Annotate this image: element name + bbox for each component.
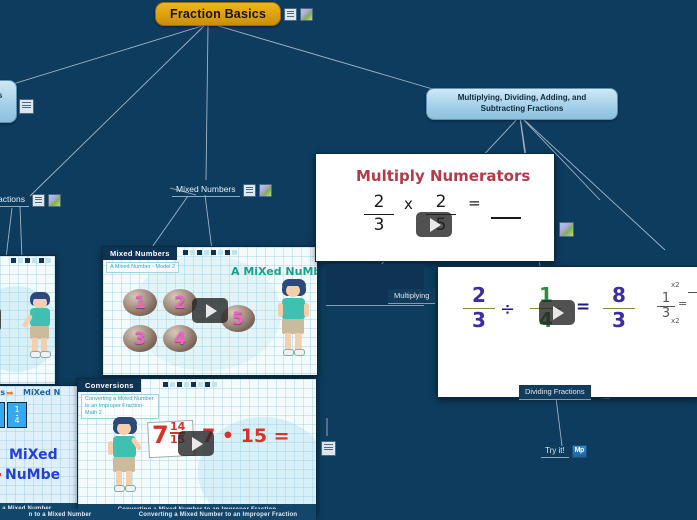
operator-multiply: x xyxy=(404,195,413,213)
video-mixed-numbers[interactable]: Mixed Numbers A Mixed Number - Model 2 A… xyxy=(102,246,318,376)
answer-blank xyxy=(491,217,521,219)
frac1-numerator: 2 xyxy=(364,194,394,212)
video-overlay-title-mixed: A MiXed NuMbeR xyxy=(231,265,317,278)
bigfrac-denominator: 4 xyxy=(0,476,1,505)
image-icon-right[interactable] xyxy=(559,222,574,237)
coin-1: 1 xyxy=(123,289,157,316)
mindmap-canvas[interactable]: Fraction Basics Multiplying, Dividing, A… xyxy=(0,0,697,520)
frac2-numerator: 2 xyxy=(426,194,456,212)
equals-sign-divide: = xyxy=(576,297,590,317)
video-header-right-fractions-to-mixed: MiXed N xyxy=(23,388,60,397)
node-mixed-numbers-label[interactable]: Mixed Numbers xyxy=(172,183,240,197)
label-multiplying[interactable]: Multiplying xyxy=(388,289,435,304)
video-header-conversions: Conversions xyxy=(78,379,141,392)
frac1-denominator: 3 xyxy=(364,217,394,235)
node-multiplying-dividing-label[interactable]: Multiplying, Dividing, Adding, and Subtr… xyxy=(426,88,618,120)
root-node-group[interactable]: Fraction Basics xyxy=(155,2,313,26)
div-c-denominator: 3 xyxy=(603,310,635,332)
note-icon-fractions[interactable] xyxy=(32,194,45,207)
video-fractions-to-mixed[interactable]: fractions ➡ MiXed N 1 4 1 4 xyxy=(0,385,80,515)
side-frac-numerator: 1 xyxy=(657,292,675,306)
image-icon-fractions[interactable] xyxy=(48,194,61,207)
mp-icon[interactable]: Mp xyxy=(572,445,587,458)
video-subtitle-mixed-numbers: A Mixed Number - Model 2 xyxy=(106,262,179,273)
caption-bottom-conversions: Converting a Mixed Number to an Improper… xyxy=(120,509,316,520)
node-try-it-label[interactable]: Try it! xyxy=(541,445,569,458)
node-try-it-group[interactable]: Try it! Mp xyxy=(541,445,587,458)
video-header-mixed-numbers: Mixed Numbers xyxy=(103,247,177,260)
label-dividing-fractions[interactable]: Dividing Fractions xyxy=(519,385,591,400)
arrow-icon: ➡ xyxy=(6,388,14,399)
side-frac-equals: = xyxy=(678,297,687,310)
video-header-fractions-to-mixed: fractions xyxy=(0,388,5,397)
node-fractions-group[interactable]: Fractions xyxy=(0,193,61,207)
conversion-whole-number: 7 xyxy=(152,423,169,447)
node-fractions-label[interactable]: Fractions xyxy=(0,193,29,207)
node-fractions-partial-group[interactable]: ns xyxy=(0,80,17,123)
video-subtitle-conversions: Converting a Mixed Number to an Improper… xyxy=(81,394,159,419)
video-dividing-fractions[interactable]: 2 3 ÷ 1 4 = 8 3 1 3 x2 x2 = xyxy=(437,266,697,398)
image-icon-mixed-numbers[interactable] xyxy=(259,184,272,197)
video-fractions-left-edge[interactable]: ctions Number xyxy=(0,255,56,385)
note-icon-lower[interactable] xyxy=(321,441,336,456)
bigfrac-numerator: 3 xyxy=(0,444,1,473)
operator-divide: ÷ xyxy=(500,299,515,320)
mixed-word-2: NuMbe xyxy=(5,468,60,482)
note-icon[interactable] xyxy=(284,8,297,21)
coin-3: 3 xyxy=(123,325,157,352)
coin-4: 4 xyxy=(163,325,197,352)
side-frac-superscript: x2 xyxy=(671,281,680,289)
note-icon-partial[interactable] xyxy=(19,99,34,114)
slide-title-multiply-numerators: Multiply Numerators xyxy=(356,167,530,185)
fraction-cell-3: 1 4 xyxy=(7,402,27,428)
root-node-label[interactable]: Fraction Basics xyxy=(155,2,281,26)
note-icon-mixed-numbers[interactable] xyxy=(243,184,256,197)
fraction-cell-2: 1 4 xyxy=(0,402,5,428)
side-frac2-bar xyxy=(688,292,697,293)
node-fractions-partial-label[interactable]: ns xyxy=(0,80,17,123)
div-c-numerator: 8 xyxy=(603,285,635,307)
conversion-expression: 7 • 15 = xyxy=(202,425,290,447)
caption-bottom-left: n to a Mixed Number xyxy=(0,509,120,520)
equals-sign-multiply: = xyxy=(468,194,481,212)
node-multiplying-dividing-group[interactable]: Multiplying, Dividing, Adding, and Subtr… xyxy=(426,88,618,120)
mixed-word-1: MiXed xyxy=(9,448,58,462)
image-icon[interactable] xyxy=(300,8,313,21)
play-button-multiply-numerators[interactable] xyxy=(416,212,452,237)
video-multiply-numerators[interactable]: Multiply Numerators 2 3 x 2 5 = xyxy=(315,153,555,262)
video-conversions[interactable]: Conversions Converting a Mixed Number to… xyxy=(77,378,317,516)
play-button-conversions[interactable] xyxy=(178,431,214,456)
side-frac-subscript: x2 xyxy=(671,317,680,325)
play-button-dividing-fractions[interactable] xyxy=(539,300,575,325)
node-mixed-numbers-group[interactable]: Mixed Numbers xyxy=(172,183,272,197)
div-a-numerator: 2 xyxy=(463,285,495,307)
div-a-denominator: 3 xyxy=(463,310,495,332)
play-button-mixed-numbers[interactable] xyxy=(192,298,228,323)
